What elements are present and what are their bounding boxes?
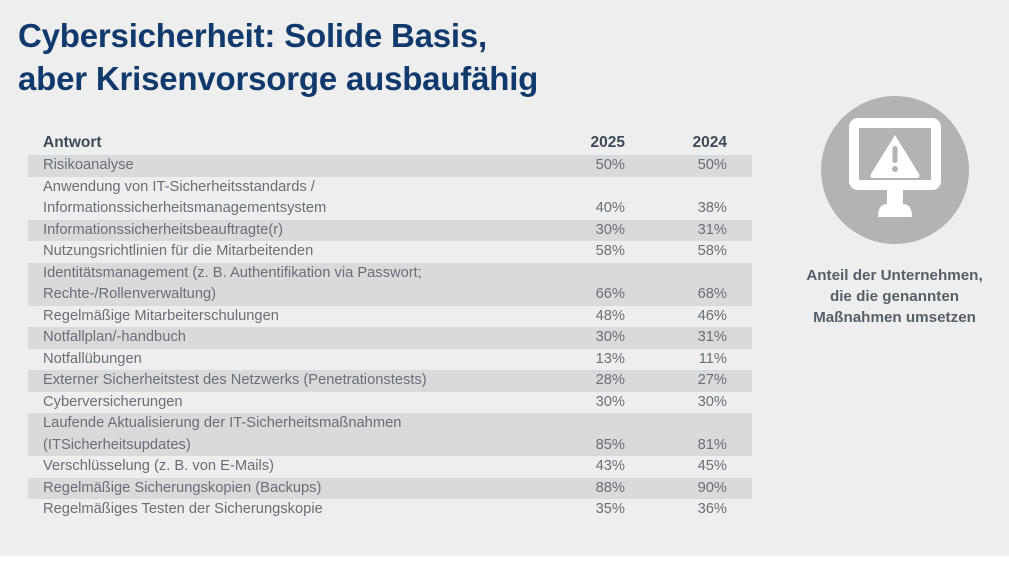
page-title-line-1: Cybersicherheit: Solide Basis,: [18, 14, 838, 57]
row-value-2024: 81%: [649, 435, 752, 457]
row-value-2025: 13%: [547, 349, 649, 371]
row-value-2025: 35%: [547, 499, 649, 521]
row-value-2024: 38%: [649, 198, 752, 220]
row-value-2025: 48%: [547, 306, 649, 328]
icon-caption: Anteil der Unternehmen, die die genannte…: [780, 265, 1009, 328]
bottom-strip: [0, 556, 1009, 562]
table-row: Notfallplan/-handbuch30%31%: [28, 327, 752, 349]
page-title: Cybersicherheit: Solide Basis, aber Kris…: [18, 14, 838, 100]
table-body: Risikoanalyse50%50%Anwendung von IT-Sich…: [28, 155, 752, 521]
row-value-2024: 50%: [649, 155, 752, 177]
row-value-2025: 50%: [547, 155, 649, 177]
row-label: Externer Sicherheitstest des Netzwerks (…: [43, 370, 547, 392]
row-value-2024: 30%: [649, 392, 752, 414]
icon-caption-block: Anteil der Unternehmen, die die genannte…: [780, 96, 1009, 328]
row-label: Identitätsmanagement (z. B. Authentifika…: [43, 263, 547, 306]
table-row: Identitätsmanagement (z. B. Authentifika…: [28, 263, 752, 306]
row-label: Laufende Aktualisierung der IT-Sicherhei…: [43, 413, 547, 456]
measures-table: Antwort 2025 2024 Risikoanalyse50%50%Anw…: [28, 128, 752, 521]
column-header-2024: 2024: [649, 132, 752, 154]
row-label: Notfallübungen: [43, 349, 547, 371]
monitor-warning-icon: [821, 96, 969, 244]
table-row: Notfallübungen13%11%: [28, 349, 752, 371]
row-label: Regelmäßige Sicherungskopien (Backups): [43, 478, 547, 500]
table-row: Externer Sicherheitstest des Netzwerks (…: [28, 370, 752, 392]
table-row: Risikoanalyse50%50%: [28, 155, 752, 177]
row-label: Nutzungsrichtlinien für die Mitarbeitend…: [43, 241, 547, 263]
column-header-answer: Antwort: [43, 132, 547, 154]
table-row: Anwendung von IT-Sicherheitsstandards / …: [28, 177, 752, 220]
row-value-2024: 31%: [649, 220, 752, 242]
row-label: Informationssicherheitsbeauftragte(r): [43, 220, 547, 242]
icon-caption-line-3: Maßnahmen umsetzen: [780, 307, 1009, 328]
row-value-2025: 30%: [547, 392, 649, 414]
row-value-2025: 85%: [547, 435, 649, 457]
row-label: Anwendung von IT-Sicherheitsstandards / …: [43, 177, 547, 220]
row-value-2025: 28%: [547, 370, 649, 392]
slide-root: Cybersicherheit: Solide Basis, aber Kris…: [0, 0, 1009, 556]
row-value-2025: 30%: [547, 327, 649, 349]
row-label: Regelmäßige Mitarbeiterschulungen: [43, 306, 547, 328]
row-value-2024: 31%: [649, 327, 752, 349]
row-value-2025: 58%: [547, 241, 649, 263]
table-row: Nutzungsrichtlinien für die Mitarbeitend…: [28, 241, 752, 263]
row-label: Cyberversicherungen: [43, 392, 547, 414]
row-value-2025: 40%: [547, 198, 649, 220]
table-row: Regelmäßiges Testen der Sicherungskopie3…: [28, 499, 752, 521]
row-value-2024: 36%: [649, 499, 752, 521]
table-row: Laufende Aktualisierung der IT-Sicherhei…: [28, 413, 752, 456]
column-header-2025: 2025: [547, 132, 649, 154]
table-row: Regelmäßige Sicherungskopien (Backups)88…: [28, 478, 752, 500]
table-row: Regelmäßige Mitarbeiterschulungen48%46%: [28, 306, 752, 328]
icon-caption-line-1: Anteil der Unternehmen,: [780, 265, 1009, 286]
row-value-2024: 90%: [649, 478, 752, 500]
row-value-2025: 30%: [547, 220, 649, 242]
row-value-2024: 46%: [649, 306, 752, 328]
table-row: Verschlüsselung (z. B. von E-Mails)43%45…: [28, 456, 752, 478]
row-label: Risikoanalyse: [43, 155, 547, 177]
row-label: Notfallplan/-handbuch: [43, 327, 547, 349]
row-label: Regelmäßiges Testen der Sicherungskopie: [43, 499, 547, 521]
table-header-row: Antwort 2025 2024: [28, 128, 752, 155]
icon-caption-line-2: die die genannten: [780, 286, 1009, 307]
row-value-2024: 68%: [649, 284, 752, 306]
page-title-line-2: aber Krisenvorsorge ausbaufähig: [18, 57, 838, 100]
row-value-2024: 11%: [649, 349, 752, 371]
row-label: Verschlüsselung (z. B. von E-Mails): [43, 456, 547, 478]
row-value-2024: 27%: [649, 370, 752, 392]
row-value-2025: 66%: [547, 284, 649, 306]
row-value-2025: 43%: [547, 456, 649, 478]
row-value-2024: 58%: [649, 241, 752, 263]
row-value-2025: 88%: [547, 478, 649, 500]
table-row: Cyberversicherungen30%30%: [28, 392, 752, 414]
table-row: Informationssicherheitsbeauftragte(r)30%…: [28, 220, 752, 242]
row-value-2024: 45%: [649, 456, 752, 478]
